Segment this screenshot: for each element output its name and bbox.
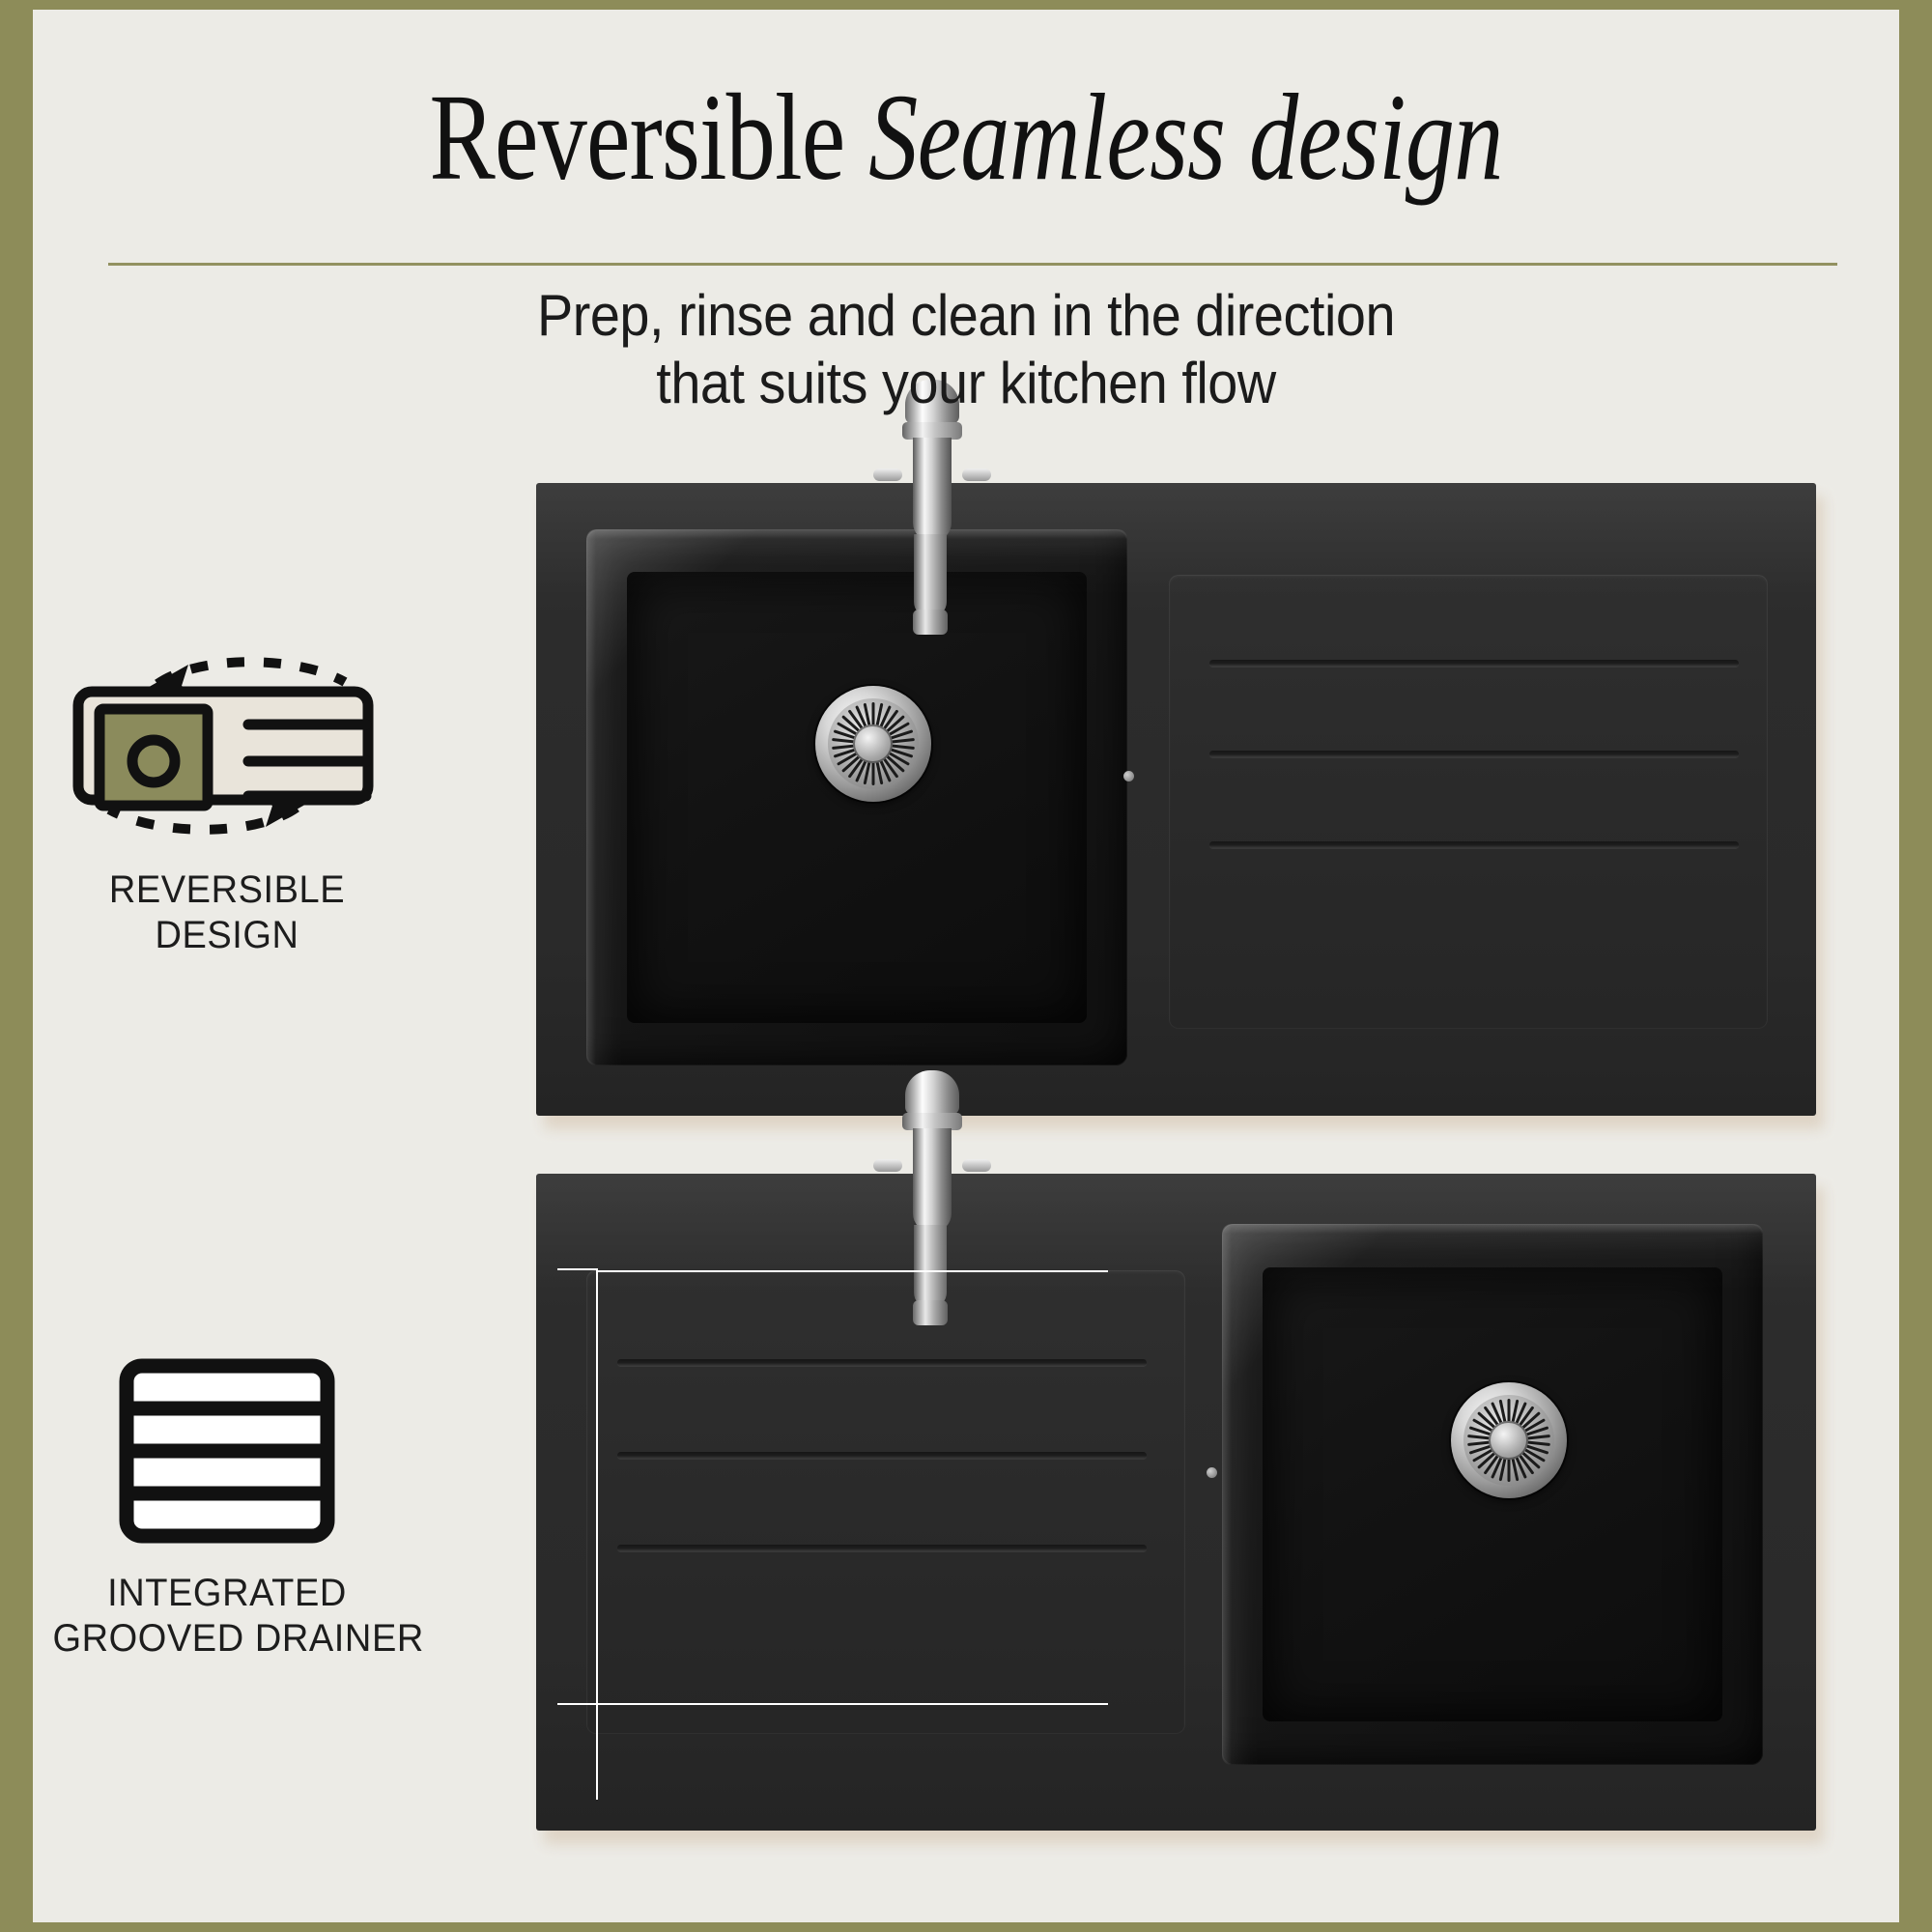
- faucet-neck: [913, 438, 952, 542]
- border-left: [0, 0, 33, 1932]
- sink-surface: [536, 483, 1816, 1116]
- dimension-tick-bottom: [557, 1703, 596, 1705]
- subtitle-line-2: that suits your kitchen flow: [99, 350, 1834, 417]
- drainer-groove-3: [617, 1545, 1147, 1551]
- faucet-neck: [913, 1128, 952, 1233]
- faucet-spout: [914, 1225, 947, 1308]
- bowl-rim-highlight-left: [586, 529, 596, 1065]
- drainer-groove-1: [1209, 660, 1739, 667]
- faucet-lever-left: [873, 1159, 902, 1172]
- sink-bowl-fill: [99, 709, 208, 806]
- infographic-page: Reversible Seamless design Prep, rinse a…: [0, 0, 1932, 1932]
- faucet-lever-right: [962, 469, 991, 481]
- border-bottom: [0, 1922, 1932, 1932]
- border-top: [0, 0, 1932, 10]
- dimension-line-horizontal-top: [596, 1270, 1108, 1272]
- faucet-cap: [905, 1070, 959, 1115]
- dimension-line-horizontal-bottom: [596, 1703, 1108, 1705]
- bowl-rim-highlight-top: [586, 529, 1127, 539]
- product-image-sink-bowl-left: [536, 483, 1816, 1116]
- bowl-overflow-hole: [1207, 1467, 1217, 1478]
- dimension-line-vertical-lower: [596, 1463, 598, 1800]
- page-title: Reversible Seamless design: [219, 75, 1713, 199]
- faucet-lever-right: [962, 1159, 991, 1172]
- faucet-bottom: [869, 1070, 995, 1418]
- dimension-tick-top: [557, 1268, 596, 1270]
- sink-drainer: [1169, 575, 1768, 1029]
- faucet-lever-left: [873, 469, 902, 481]
- faucet-aerator: [913, 610, 948, 635]
- subtitle-line-1: Prep, rinse and clean in the direction: [99, 282, 1834, 350]
- drainer-groove-3: [1209, 841, 1739, 848]
- faucet-spout: [914, 534, 947, 617]
- reversible-sink-icon: [43, 649, 411, 842]
- product-image-sink-bowl-right: [536, 1174, 1816, 1831]
- drainer-groove-2: [617, 1452, 1147, 1459]
- feature-caption-reversible: REVERSIBLE DESIGN: [53, 867, 402, 958]
- caption-line-2: GROOVED DRAINER: [53, 1616, 402, 1662]
- border-right: [1899, 0, 1932, 1932]
- caption-line-2: DESIGN: [53, 913, 402, 958]
- bowl-overflow-hole: [1123, 771, 1134, 781]
- title-roman: Reversible: [429, 69, 868, 206]
- feature-reversible-design: REVERSIBLE DESIGN: [43, 649, 411, 958]
- bowl-rim-highlight-top: [1222, 1224, 1763, 1234]
- drainer-groove-2: [1209, 751, 1739, 757]
- faucet-aerator: [913, 1300, 948, 1325]
- feature-grooved-drainer: INTEGRATED GROOVED DRAINER: [43, 1352, 411, 1662]
- basket-strainer: [1451, 1382, 1567, 1498]
- grooved-drainer-icon: [43, 1352, 411, 1546]
- bowl-rim-highlight-left: [1222, 1224, 1232, 1765]
- caption-line-1: INTEGRATED: [53, 1571, 402, 1616]
- sink-surface: [536, 1174, 1816, 1831]
- faucet-top: [869, 380, 995, 727]
- reversible-sink-icon-svg: [43, 649, 411, 842]
- title-divider-rule: [108, 263, 1837, 266]
- subtitle: Prep, rinse and clean in the direction t…: [99, 282, 1834, 417]
- grooved-drainer-icon-svg: [43, 1352, 411, 1546]
- feature-caption-drainer: INTEGRATED GROOVED DRAINER: [53, 1571, 402, 1662]
- title-italic: Seamless design: [868, 69, 1502, 206]
- caption-line-1: REVERSIBLE: [53, 867, 402, 913]
